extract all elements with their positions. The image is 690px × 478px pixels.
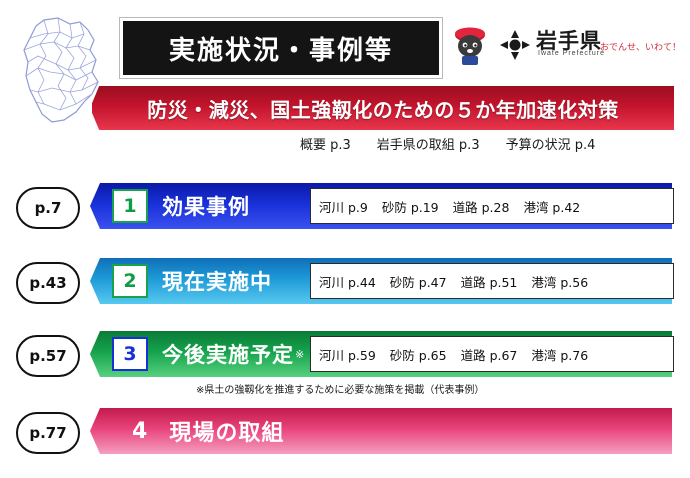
page-title: 実施状況・事例等 (169, 30, 393, 67)
page-title-bar: 実施状況・事例等 (120, 18, 442, 78)
section-asterisk-3: ※ (295, 348, 304, 361)
link-port-2[interactable]: 港湾 p.56 (531, 272, 588, 291)
section-label-4: 現場の取組 (169, 415, 284, 447)
subtitle-text: 防災・減災、国土強靱化のための５か年加速化対策 (147, 94, 619, 123)
page-badge-3[interactable]: p.57 (16, 335, 80, 377)
prefecture-name-roman: Iwate Prefecture (538, 50, 605, 57)
section-label-3: 今後実施予定 (162, 339, 294, 369)
link-sabo-1[interactable]: 砂防 p.19 (382, 197, 439, 216)
section-number-4: 4 (132, 419, 147, 444)
page-badge-2[interactable]: p.43 (16, 262, 80, 304)
section-number-3: 3 (112, 337, 148, 371)
section-row-3: p.57 3 今後実施予定 ※ 河川 p.59 砂防 p.65 道路 p.67 … (0, 331, 690, 377)
link-sabo-2[interactable]: 砂防 p.47 (390, 272, 447, 291)
page-badge-1[interactable]: p.7 (16, 187, 80, 229)
link-port-1[interactable]: 港湾 p.42 (523, 197, 580, 216)
prefecture-tagline: おでんせ、いわて！ (600, 40, 681, 53)
mascot-icon (448, 24, 492, 68)
section-row-1: p.7 1 効果事例 河川 p.9 砂防 p.19 道路 p.28 港湾 p.4… (0, 183, 690, 229)
section-label-2: 現在実施中 (162, 266, 272, 296)
iwate-prefecture-mark-icon (498, 28, 532, 62)
link-river-2[interactable]: 河川 p.44 (319, 272, 376, 291)
section-number-1: 1 (112, 189, 148, 223)
section-row-2: p.43 2 現在実施中 河川 p.44 砂防 p.47 道路 p.51 港湾 … (0, 258, 690, 304)
link-road-3[interactable]: 道路 p.67 (461, 345, 518, 364)
link-road-2[interactable]: 道路 p.51 (461, 272, 518, 291)
link-sabo-3[interactable]: 砂防 p.65 (390, 345, 447, 364)
link-road-1[interactable]: 道路 p.28 (453, 197, 510, 216)
link-port-3[interactable]: 港湾 p.76 (531, 345, 588, 364)
link-box-2: 河川 p.44 砂防 p.47 道路 p.51 港湾 p.56 (310, 263, 674, 299)
section-band-4[interactable]: 4 現場の取組 (90, 408, 672, 454)
slide-page: 実施状況・事例等 岩手県 (0, 0, 690, 478)
link-river-1[interactable]: 河川 p.9 (319, 197, 368, 216)
section-row-4: p.77 4 現場の取組 (0, 408, 690, 454)
subtitle-bar: 防災・減災、国土強靱化のための５か年加速化対策 (90, 84, 676, 132)
section-number-2: 2 (112, 264, 148, 298)
link-box-3: 河川 p.59 砂防 p.65 道路 p.67 港湾 p.76 (310, 336, 674, 372)
prefecture-logo: 岩手県 Iwate Prefecture おでんせ、いわて！ (448, 22, 678, 70)
sublink-iwate-efforts[interactable]: 岩手県の取組 p.3 (377, 134, 480, 153)
page-badge-4[interactable]: p.77 (16, 412, 80, 454)
link-river-3[interactable]: 河川 p.59 (319, 345, 376, 364)
sublink-overview[interactable]: 概要 p.3 (300, 134, 351, 153)
sublink-budget-status[interactable]: 予算の状況 p.4 (506, 134, 596, 153)
subtitle-links: 概要 p.3 岩手県の取組 p.3 予算の状況 p.4 (300, 134, 680, 153)
section-label-1: 効果事例 (162, 191, 250, 221)
footnote: ※県土の強靱化を推進するために必要な施策を掲載（代表事例） (196, 381, 484, 396)
link-box-1: 河川 p.9 砂防 p.19 道路 p.28 港湾 p.42 (310, 188, 674, 224)
